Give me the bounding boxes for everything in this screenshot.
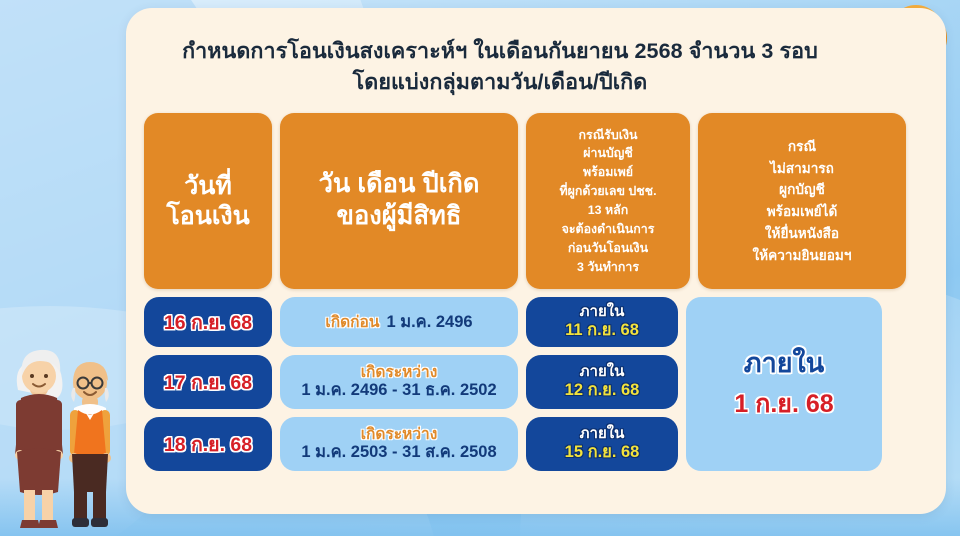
cell-transfer-date: 17 ก.ย. 68	[144, 355, 272, 409]
deadline-date: 12 ก.ย. 68	[565, 381, 640, 400]
cell-promptpay-deadline: ภายใน 11 ก.ย. 68	[526, 297, 678, 347]
deadline-label: ภายใน	[580, 304, 625, 320]
birth-date-inline: เกิดก่อน 1 ม.ค. 2496	[325, 313, 472, 332]
header-transfer-date-label: วันที่โอนเงิน	[166, 171, 249, 232]
elderly-couple-illustration	[4, 336, 122, 536]
schedule-table: วันที่โอนเงิน วัน เดือน ปีเกิดของผู้มีสิ…	[144, 113, 922, 471]
header-transfer-date: วันที่โอนเงิน	[144, 113, 272, 289]
header-promptpay-case-label: กรณีรับเงินผ่านบัญชีพร้อมเพย์ที่ผูกด้วยเ…	[559, 126, 656, 277]
birth-date-range: 1 ม.ค. 2496	[386, 313, 472, 332]
transfer-date-value: 17 ก.ย. 68	[164, 367, 252, 398]
header-no-promptpay-case-label: กรณีไม่สามารถผูกบัญชีพร้อมเพย์ได้ให้ยื่น…	[753, 136, 852, 267]
birth-date-prefix: เกิดระหว่าง	[361, 426, 438, 443]
deadline-label: ภายใน	[580, 426, 625, 442]
table-row: 16 ก.ย. 68 เกิดก่อน 1 ม.ค. 2496 ภายใน 11…	[144, 297, 678, 347]
title-line-2: โดยแบ่งกลุ่มตามวัน/เดือน/ปีเกิด	[150, 67, 850, 98]
cell-promptpay-deadline: ภายใน 15 ก.ย. 68	[526, 417, 678, 471]
cell-birth-date: เกิดก่อน 1 ม.ค. 2496	[280, 297, 518, 347]
cell-birth-date: เกิดระหว่าง 1 ม.ค. 2496 - 31 ธ.ค. 2502	[280, 355, 518, 409]
deadline-date: 11 ก.ย. 68	[565, 321, 639, 340]
birth-date-prefix: เกิดก่อน	[325, 314, 379, 331]
title-line-1: กำหนดการโอนเงินสงเคราะห์ฯ ในเดือนกันยายน…	[182, 39, 818, 63]
header-no-promptpay-case: กรณีไม่สามารถผูกบัญชีพร้อมเพย์ได้ให้ยื่น…	[698, 113, 906, 289]
consent-deadline-label: ภายใน	[744, 349, 824, 379]
transfer-date-value: 18 ก.ย. 68	[164, 429, 252, 460]
header-birth-date: วัน เดือน ปีเกิดของผู้มีสิทธิ	[280, 113, 518, 289]
cell-promptpay-deadline: ภายใน 12 ก.ย. 68	[526, 355, 678, 409]
cell-transfer-date: 18 ก.ย. 68	[144, 417, 272, 471]
table-header-row: วันที่โอนเงิน วัน เดือน ปีเกิดของผู้มีสิ…	[144, 113, 922, 289]
cell-birth-date: เกิดระหว่าง 1 ม.ค. 2503 - 31 ส.ค. 2508	[280, 417, 518, 471]
header-promptpay-case: กรณีรับเงินผ่านบัญชีพร้อมเพย์ที่ผูกด้วยเ…	[526, 113, 690, 289]
table-row: 18 ก.ย. 68 เกิดระหว่าง 1 ม.ค. 2503 - 31 …	[144, 417, 678, 471]
header-birth-date-label: วัน เดือน ปีเกิดของผู้มีสิทธิ	[319, 169, 480, 232]
birth-date-prefix: เกิดระหว่าง	[361, 364, 438, 381]
infographic-canvas: $	[0, 0, 960, 536]
cell-consent-deadline: ภายใน 1 ก.ย. 68	[686, 297, 882, 471]
deadline-label: ภายใน	[580, 364, 625, 380]
birth-date-range: 1 ม.ค. 2503 - 31 ส.ค. 2508	[301, 443, 496, 462]
table-row: 17 ก.ย. 68 เกิดระหว่าง 1 ม.ค. 2496 - 31 …	[144, 355, 678, 409]
birth-date-range: 1 ม.ค. 2496 - 31 ธ.ค. 2502	[301, 381, 496, 400]
table-body: 16 ก.ย. 68 เกิดก่อน 1 ม.ค. 2496 ภายใน 11…	[144, 297, 922, 471]
deadline-date: 15 ก.ย. 68	[565, 443, 640, 462]
consent-deadline-date: 1 ก.ย. 68	[734, 391, 833, 419]
transfer-date-value: 16 ก.ย. 68	[164, 307, 252, 338]
cell-transfer-date: 16 ก.ย. 68	[144, 297, 272, 347]
page-title: กำหนดการโอนเงินสงเคราะห์ฯ ในเดือนกันยายน…	[150, 36, 850, 97]
